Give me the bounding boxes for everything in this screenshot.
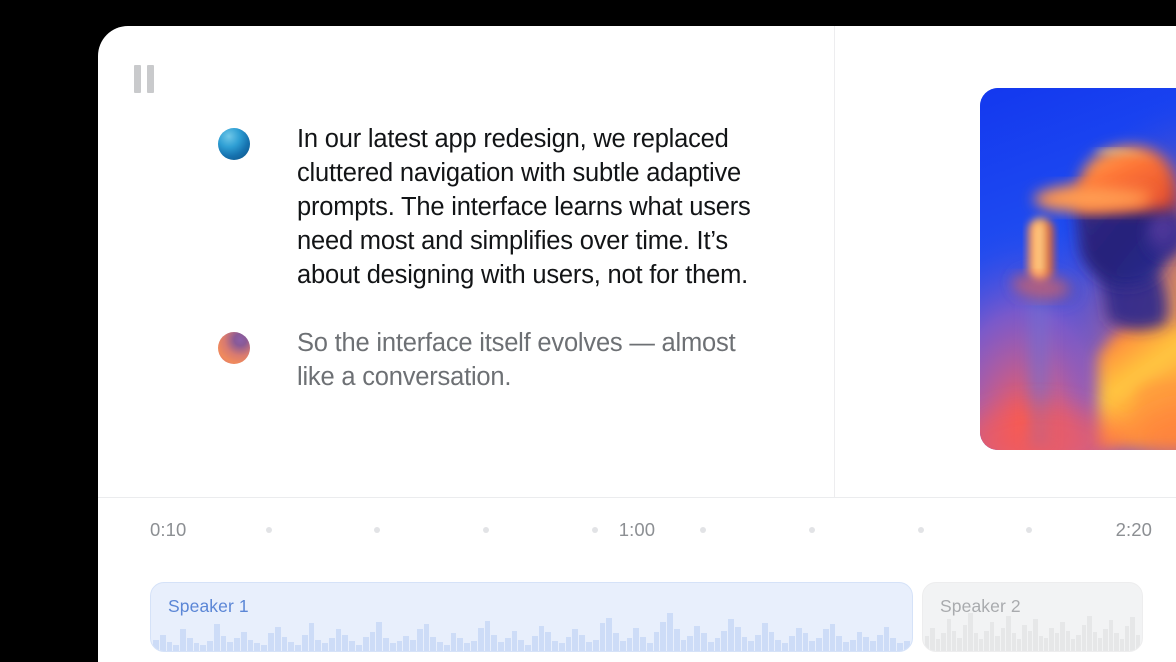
waveform-bar: [1071, 639, 1075, 651]
waveform-bar: [995, 636, 999, 651]
waveform-bar: [715, 638, 721, 651]
waveform-bar: [1125, 626, 1129, 651]
waveform-bar: [836, 636, 842, 651]
waveform-bar: [302, 635, 308, 651]
waveform-bar: [282, 637, 288, 651]
waveform-bar: [586, 642, 592, 651]
waveform-bar: [809, 641, 815, 651]
waveform-bar: [342, 635, 348, 651]
waveform-bar: [457, 638, 463, 651]
waveform-bar: [627, 638, 633, 651]
media-pane: [834, 26, 1176, 497]
transcript-utterance-2[interactable]: So the interface itself evolves — almost…: [98, 326, 834, 394]
waveform-bar: [417, 629, 423, 651]
waveform-bar: [356, 645, 362, 651]
waveform-bar: [471, 641, 477, 651]
waveform-bar: [1060, 622, 1064, 651]
timeline-mid-label: 1:00: [619, 519, 655, 541]
waveform-bar: [968, 613, 972, 651]
waveform-bar: [606, 618, 612, 651]
waveform-bar: [762, 623, 768, 651]
waveform-bar: [925, 636, 929, 651]
speaker-track-2-label: Speaker 2: [940, 596, 1021, 617]
waveform-bar: [850, 640, 856, 651]
waveform-bar: [322, 643, 328, 651]
waveform-bar: [721, 631, 727, 651]
timeline-tick-dot: [483, 527, 489, 533]
waveform-bar: [979, 639, 983, 651]
waveform-bar: [843, 642, 849, 651]
waveform-bar: [755, 635, 761, 651]
waveform-bar: [1017, 639, 1021, 651]
waveform-bar: [227, 642, 233, 651]
waveform-bar: [424, 624, 430, 651]
waveform-bar: [796, 628, 802, 651]
waveform-bar: [1098, 638, 1102, 651]
waveform-bar: [748, 641, 754, 651]
waveform-bar: [1001, 628, 1005, 651]
waveform-bar: [1093, 632, 1097, 651]
waveform-bar: [430, 637, 436, 651]
waveform-bar: [1103, 629, 1107, 651]
waveform-bar: [410, 640, 416, 651]
waveform-bar: [974, 633, 978, 651]
waveform-bar: [505, 638, 511, 651]
waveform-bar: [633, 628, 639, 651]
waveform-bar: [518, 640, 524, 651]
waveform-bar: [1087, 616, 1091, 651]
waveform-bar: [241, 632, 247, 651]
waveform-bar: [1044, 638, 1048, 651]
waveform-bar: [1022, 625, 1026, 651]
waveform-bar: [1039, 636, 1043, 651]
waveform-bar: [1130, 617, 1134, 651]
waveform-bar: [1114, 633, 1118, 651]
waveform-bar: [803, 633, 809, 651]
timeline-tick-dot: [809, 527, 815, 533]
waveform-bar: [884, 627, 890, 651]
waveform-bar: [654, 632, 660, 651]
waveform-bar: [349, 641, 355, 651]
transcript-utterance-1[interactable]: In our latest app redesign, we replaced …: [98, 122, 834, 292]
waveform-bar: [275, 627, 281, 651]
waveform-bar: [464, 643, 470, 651]
waveform-bar: [789, 636, 795, 651]
waveform-bar: [1066, 631, 1070, 651]
waveform-bar: [947, 619, 951, 651]
waveform-bar: [830, 624, 836, 651]
waveform-bar: [769, 632, 775, 651]
waveform-bar: [952, 631, 956, 651]
waveform-bar: [539, 626, 545, 651]
waveform-bar: [254, 643, 260, 651]
waveform-bar: [370, 632, 376, 651]
waveform-bar: [1076, 635, 1080, 651]
waveform-bar: [681, 640, 687, 651]
waveform-bar: [336, 629, 342, 651]
waveform-bar: [620, 641, 626, 651]
waveform-bar: [708, 642, 714, 651]
speaker-tracks: Speaker 1 Speaker 2: [98, 560, 1176, 662]
waveform-bar: [512, 631, 518, 651]
timeline-start-label: 0:10: [150, 519, 186, 541]
waveform-bar: [694, 626, 700, 651]
waveform-bar: [660, 622, 666, 651]
waveform-bar: [742, 637, 748, 651]
waveform-bar: [234, 638, 240, 651]
waveform-bar: [268, 633, 274, 651]
waveform-bar: [863, 637, 869, 651]
waveform-bar: [890, 638, 896, 651]
waveform-bar: [315, 640, 321, 651]
waveform-bar: [1028, 631, 1032, 651]
waveform-bar: [823, 629, 829, 651]
waveform-bar: [782, 643, 788, 651]
waveform-bar: [957, 638, 961, 651]
waveform-bar: [1012, 633, 1016, 651]
waveform-bar: [701, 633, 707, 651]
thermal-portrait-image: [980, 88, 1176, 450]
waveform-bar: [579, 635, 585, 651]
waveform-bar: [600, 623, 606, 651]
speaker-track-1-label: Speaker 1: [168, 596, 249, 617]
waveform-bar: [728, 619, 734, 651]
waveform-bar: [816, 638, 822, 651]
speaker-track-1-waveform: [151, 583, 912, 651]
waveform-bar: [984, 631, 988, 651]
waveform-bar: [674, 629, 680, 651]
timeline-end-label: 2:20: [1116, 519, 1152, 541]
waveform-bar: [1082, 625, 1086, 651]
panel-vertical-divider: [834, 26, 835, 497]
waveform-bar: [775, 640, 781, 651]
waveform-bar: [329, 638, 335, 651]
waveform-bar: [566, 637, 572, 651]
video-thumbnail[interactable]: [980, 88, 1176, 450]
waveform-bar: [187, 638, 193, 651]
waveform-bar: [200, 645, 206, 651]
waveform-bar: [397, 641, 403, 651]
waveform-bar: [485, 621, 491, 651]
waveform-bar: [437, 642, 443, 651]
timeline-tick-dot: [266, 527, 272, 533]
waveform-bar: [403, 636, 409, 651]
waveform-bar: [376, 622, 382, 651]
waveform-bar: [963, 625, 967, 651]
waveform-bar: [667, 613, 673, 651]
timeline-tick-dot: [592, 527, 598, 533]
waveform-bar: [248, 640, 254, 651]
waveform-bar: [491, 635, 497, 651]
waveform-bar: [930, 628, 934, 651]
waveform-bar: [309, 623, 315, 651]
waveform-bar: [857, 632, 863, 651]
waveform-bar: [261, 645, 267, 651]
waveform-bar: [444, 645, 450, 651]
timeline-tick-dot: [374, 527, 380, 533]
waveform-bar: [1006, 616, 1010, 651]
waveform-bar: [593, 640, 599, 651]
waveform-bar: [1055, 633, 1059, 651]
utterance-text-inactive: So the interface itself evolves — almost…: [297, 326, 767, 394]
waveform-bar: [532, 636, 538, 651]
speaker-track-2-waveform: [923, 583, 1142, 651]
waveform-bar: [221, 636, 227, 651]
speaker-track-1[interactable]: Speaker 1: [150, 582, 913, 652]
utterance-text-active: In our latest app redesign, we replaced …: [297, 122, 767, 292]
waveform-bar: [545, 632, 551, 651]
waveform-bar: [735, 627, 741, 651]
waveform-bar: [647, 643, 653, 651]
waveform-bar: [877, 635, 883, 651]
waveform-bar: [897, 643, 903, 651]
timeline-tick-dot: [1026, 527, 1032, 533]
waveform-bar: [640, 637, 646, 651]
waveform-bar: [383, 638, 389, 651]
waveform-bar: [1136, 635, 1140, 651]
waveform-bar: [451, 633, 457, 651]
waveform-bar: [1033, 619, 1037, 651]
waveform-bar: [941, 633, 945, 651]
waveform-bar: [194, 643, 200, 651]
screen: In our latest app redesign, we replaced …: [0, 0, 1176, 662]
timeline-ruler[interactable]: 0:10 1:00 2:20: [98, 498, 1176, 560]
waveform-bar: [288, 642, 294, 651]
timeline-tick-dot: [918, 527, 924, 533]
waveform-bar: [552, 641, 558, 651]
waveform-bar: [214, 624, 220, 651]
waveform-bar: [1109, 620, 1113, 651]
waveform-bar: [525, 645, 531, 651]
waveform-bar: [870, 641, 876, 651]
waveform-bar: [1120, 639, 1124, 651]
waveform-bar: [478, 628, 484, 651]
waveform-bar: [613, 633, 619, 651]
waveform-bar: [990, 622, 994, 651]
speaker-track-2[interactable]: Speaker 2: [922, 582, 1143, 652]
waveform-bar: [1049, 628, 1053, 651]
waveform-bar: [936, 639, 940, 651]
speaker-2-avatar: [218, 332, 250, 364]
waveform-bar: [180, 629, 186, 651]
player-panel: In our latest app redesign, we replaced …: [98, 26, 1176, 662]
waveform-bar: [559, 643, 565, 651]
timeline-tick-dot: [700, 527, 706, 533]
waveform-bar: [390, 643, 396, 651]
waveform-bar: [498, 642, 504, 651]
waveform-bar: [167, 642, 173, 651]
waveform-bar: [153, 640, 159, 651]
waveform-bar: [173, 645, 179, 651]
waveform-bar: [363, 637, 369, 651]
waveform-bar: [572, 629, 578, 651]
waveform-bar: [207, 641, 213, 651]
waveform-bar: [904, 641, 910, 651]
waveform-bar: [160, 635, 166, 651]
speaker-1-avatar: [218, 128, 250, 160]
transcript-list: In our latest app redesign, we replaced …: [98, 26, 834, 497]
waveform-bar: [295, 645, 301, 651]
waveform-bar: [687, 636, 693, 651]
